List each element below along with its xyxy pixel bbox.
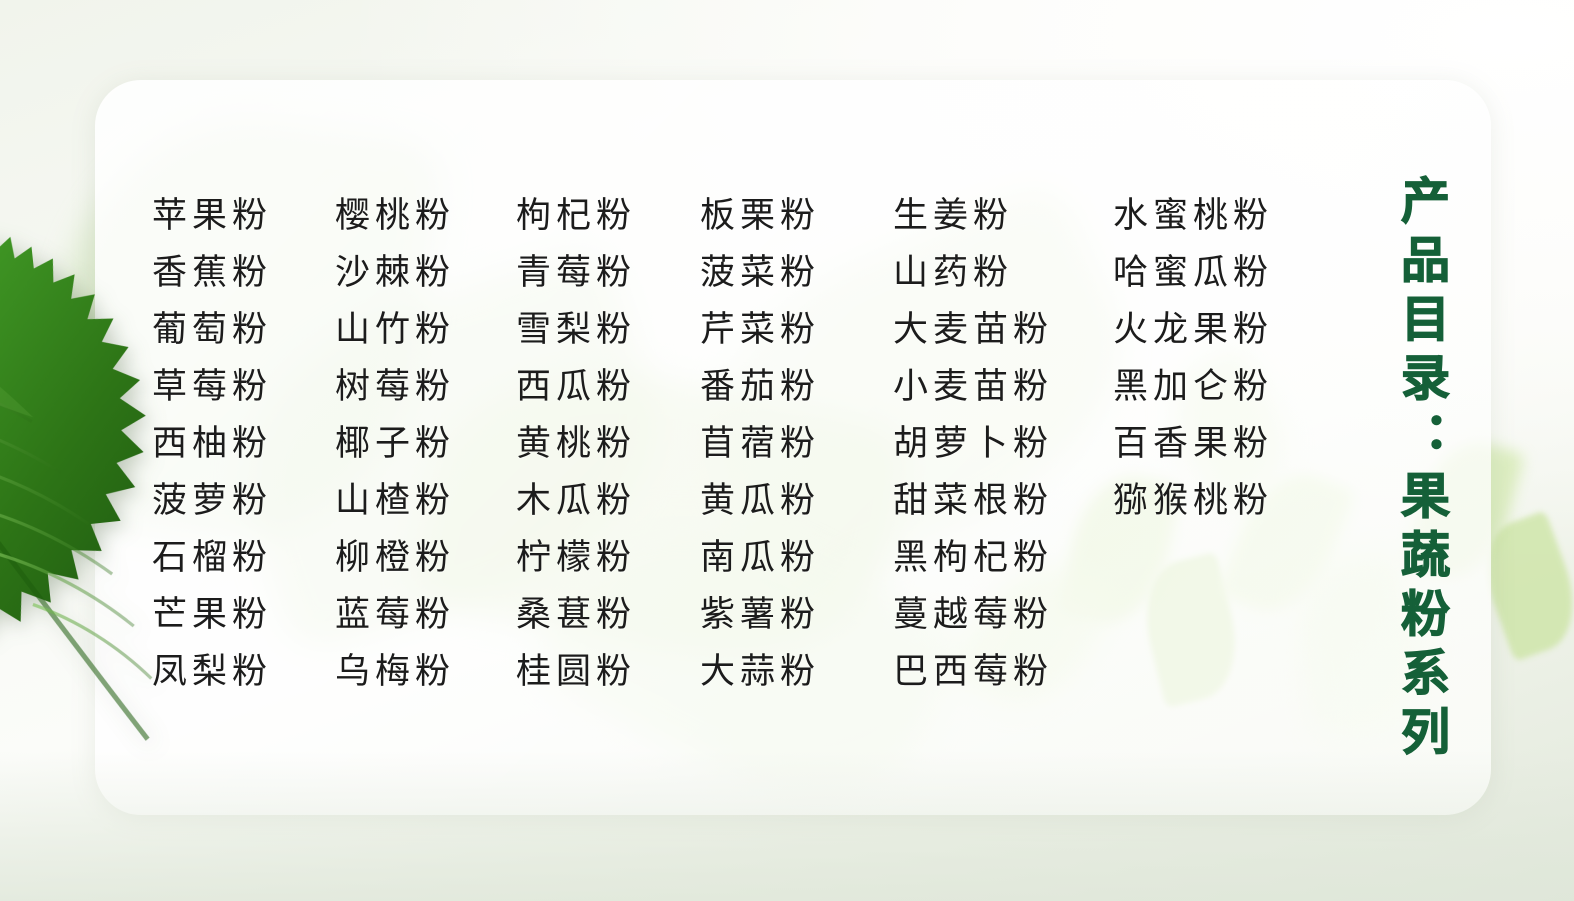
catalog-item[interactable]: 西柚粉 [152, 416, 272, 473]
catalog-item[interactable]: 桑葚粉 [516, 587, 636, 644]
catalog-item[interactable]: 樱桃粉 [335, 188, 455, 245]
catalog-item[interactable]: 蔓越莓粉 [893, 587, 1053, 644]
catalog-item[interactable]: 山竹粉 [335, 302, 455, 359]
catalog-item[interactable]: 苹果粉 [152, 188, 272, 245]
catalog-item[interactable]: 板栗粉 [700, 188, 820, 245]
catalog-item[interactable]: 大麦苗粉 [893, 302, 1053, 359]
catalog-item[interactable]: 哈蜜瓜粉 [1113, 245, 1273, 302]
catalog-item[interactable]: 黄瓜粉 [700, 473, 820, 530]
catalog-item[interactable]: 青莓粉 [516, 245, 636, 302]
catalog-column-5: 生姜粉 山药粉 大麦苗粉 小麦苗粉 胡萝卜粉 甜菜根粉 黑枸杞粉 蔓越莓粉 巴西… [893, 188, 1053, 701]
catalog-item[interactable]: 乌梅粉 [335, 644, 455, 701]
page-title-vertical: 产品目录：果蔬粉系列 [1397, 175, 1446, 765]
catalog-item[interactable]: 芒果粉 [152, 587, 272, 644]
catalog-item[interactable]: 番茄粉 [700, 359, 820, 416]
catalog-item[interactable]: 紫薯粉 [700, 587, 820, 644]
catalog-column-2: 樱桃粉 沙棘粉 山竹粉 树莓粉 椰子粉 山楂粉 柳橙粉 蓝莓粉 乌梅粉 [335, 188, 455, 701]
catalog-item[interactable]: 火龙果粉 [1113, 302, 1273, 359]
catalog-item[interactable]: 芹菜粉 [700, 302, 820, 359]
catalog-item[interactable]: 桂圆粉 [516, 644, 636, 701]
catalog-column-4: 板栗粉 菠菜粉 芹菜粉 番茄粉 苜蓿粉 黄瓜粉 南瓜粉 紫薯粉 大蒜粉 [700, 188, 820, 701]
catalog-item[interactable]: 葡萄粉 [152, 302, 272, 359]
catalog-item[interactable]: 西瓜粉 [516, 359, 636, 416]
catalog-item[interactable]: 枸杞粉 [516, 188, 636, 245]
catalog-item[interactable]: 百香果粉 [1113, 416, 1273, 473]
catalog-column-3: 枸杞粉 青莓粉 雪梨粉 西瓜粉 黄桃粉 木瓜粉 柠檬粉 桑葚粉 桂圆粉 [516, 188, 636, 701]
catalog-item[interactable]: 石榴粉 [152, 530, 272, 587]
catalog-item[interactable]: 椰子粉 [335, 416, 455, 473]
catalog-item[interactable]: 草莓粉 [152, 359, 272, 416]
catalog-column-6: 水蜜桃粉 哈蜜瓜粉 火龙果粉 黑加仑粉 百香果粉 猕猴桃粉 [1113, 188, 1273, 701]
catalog-item[interactable]: 黑枸杞粉 [893, 530, 1053, 587]
catalog-item[interactable]: 胡萝卜粉 [893, 416, 1053, 473]
catalog-item[interactable]: 大蒜粉 [700, 644, 820, 701]
catalog-item[interactable]: 苜蓿粉 [700, 416, 820, 473]
catalog-item[interactable]: 山楂粉 [335, 473, 455, 530]
catalog-item[interactable]: 柠檬粉 [516, 530, 636, 587]
catalog-item[interactable]: 蓝莓粉 [335, 587, 455, 644]
catalog-item[interactable]: 凤梨粉 [152, 644, 272, 701]
poster-canvas: 苹果粉 香蕉粉 葡萄粉 草莓粉 西柚粉 菠萝粉 石榴粉 芒果粉 凤梨粉 樱桃粉 … [0, 0, 1574, 901]
catalog-column-1: 苹果粉 香蕉粉 葡萄粉 草莓粉 西柚粉 菠萝粉 石榴粉 芒果粉 凤梨粉 [152, 188, 272, 701]
catalog-item[interactable]: 黄桃粉 [516, 416, 636, 473]
catalog-item[interactable]: 小麦苗粉 [893, 359, 1053, 416]
catalog-item[interactable]: 南瓜粉 [700, 530, 820, 587]
catalog-item[interactable]: 山药粉 [893, 245, 1053, 302]
catalog-item[interactable]: 树莓粉 [335, 359, 455, 416]
catalog-item[interactable]: 沙棘粉 [335, 245, 455, 302]
catalog-item[interactable]: 雪梨粉 [516, 302, 636, 359]
catalog-item[interactable]: 菠菜粉 [700, 245, 820, 302]
catalog-item[interactable]: 木瓜粉 [516, 473, 636, 530]
catalog-item[interactable]: 猕猴桃粉 [1113, 473, 1273, 530]
catalog-item[interactable]: 黑加仑粉 [1113, 359, 1273, 416]
catalog-item[interactable]: 生姜粉 [893, 188, 1053, 245]
catalog-item[interactable]: 巴西莓粉 [893, 644, 1053, 701]
catalog-item[interactable]: 水蜜桃粉 [1113, 188, 1273, 245]
catalog-item[interactable]: 甜菜根粉 [893, 473, 1053, 530]
catalog-item[interactable]: 柳橙粉 [335, 530, 455, 587]
catalog-item[interactable]: 香蕉粉 [152, 245, 272, 302]
catalog-item[interactable]: 菠萝粉 [152, 473, 272, 530]
